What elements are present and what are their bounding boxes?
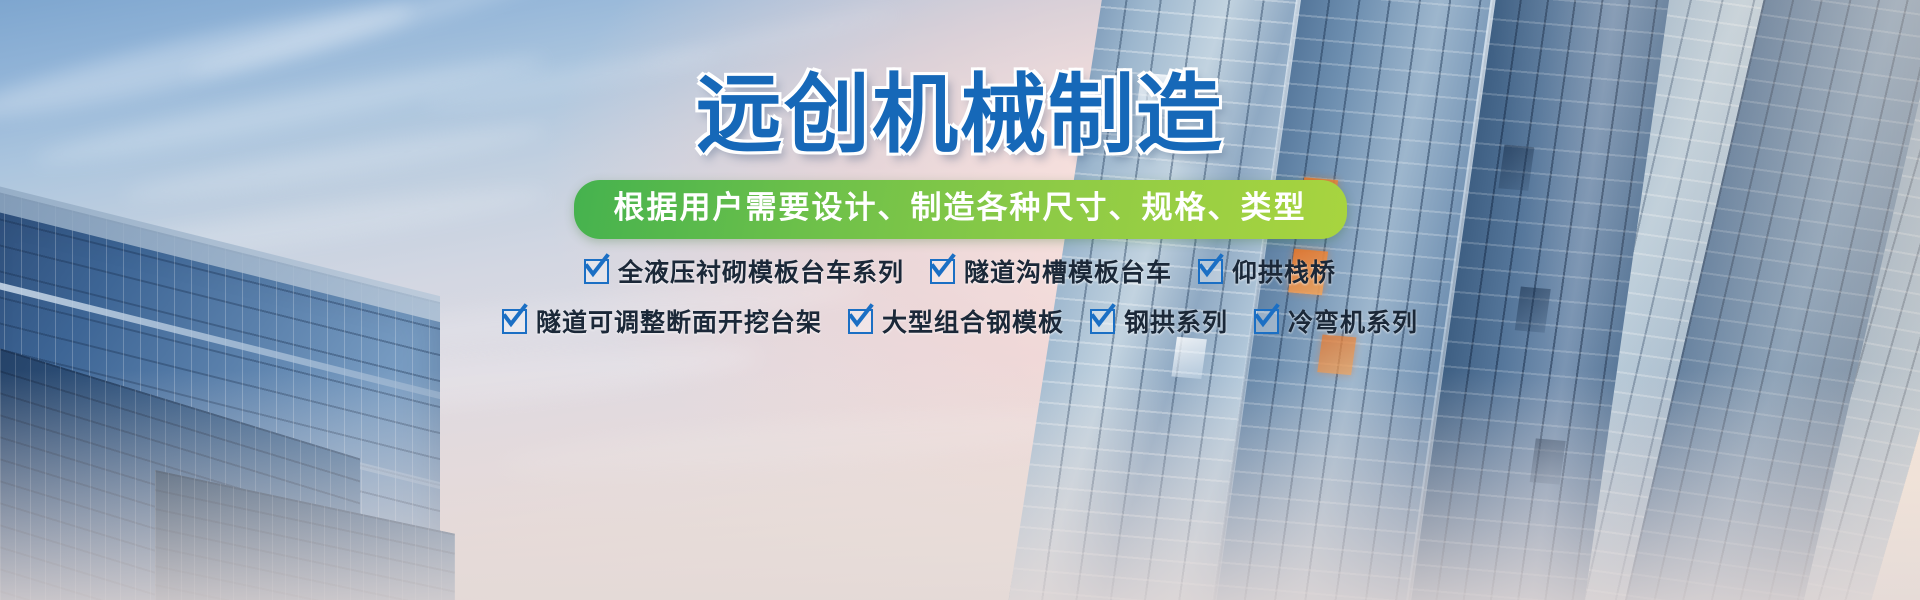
checkbox-checked-icon[interactable]	[584, 259, 609, 284]
feature-label: 隧道沟槽模板台车	[964, 253, 1172, 289]
feature-item[interactable]: 钢拱系列	[1090, 303, 1228, 339]
feature-item[interactable]: 全液压衬砌模板台车系列	[584, 253, 904, 289]
feature-item[interactable]: 大型组合钢模板	[848, 303, 1064, 339]
checkbox-checked-icon[interactable]	[1198, 259, 1223, 284]
checkbox-checked-icon[interactable]	[848, 309, 873, 334]
feature-label: 大型组合钢模板	[882, 303, 1064, 339]
feature-label: 钢拱系列	[1124, 303, 1228, 339]
feature-item[interactable]: 冷弯机系列	[1254, 303, 1418, 339]
hero-banner: 远创机械制造 根据用户需要设计、制造各种尺寸、规格、类型 全液压衬砌模板台车系列…	[0, 0, 1920, 600]
feature-label: 冷弯机系列	[1288, 303, 1418, 339]
feature-item[interactable]: 隧道可调整断面开挖台架	[502, 303, 822, 339]
feature-label: 仰拱栈桥	[1232, 253, 1336, 289]
banner-subtitle-pill: 根据用户需要设计、制造各种尺寸、规格、类型	[574, 180, 1347, 239]
banner-subtitle-wrapper: 根据用户需要设计、制造各种尺寸、规格、类型	[0, 180, 1920, 239]
feature-label: 隧道可调整断面开挖台架	[536, 303, 822, 339]
checkbox-checked-icon[interactable]	[1090, 309, 1115, 334]
feature-item[interactable]: 仰拱栈桥	[1198, 253, 1336, 289]
feature-list: 全液压衬砌模板台车系列 隧道沟槽模板台车 仰拱栈桥 隧道可调整断面开挖台架	[0, 253, 1920, 339]
banner-title: 远创机械制造	[0, 72, 1920, 158]
feature-row: 隧道可调整断面开挖台架 大型组合钢模板 钢拱系列 冷弯机系列	[502, 303, 1418, 339]
feature-label: 全液压衬砌模板台车系列	[618, 253, 904, 289]
checkbox-checked-icon[interactable]	[1254, 309, 1279, 334]
feature-item[interactable]: 隧道沟槽模板台车	[930, 253, 1172, 289]
banner-content: 远创机械制造 根据用户需要设计、制造各种尺寸、规格、类型 全液压衬砌模板台车系列…	[0, 0, 1920, 600]
feature-row: 全液压衬砌模板台车系列 隧道沟槽模板台车 仰拱栈桥	[584, 253, 1336, 289]
checkbox-checked-icon[interactable]	[930, 259, 955, 284]
checkbox-checked-icon[interactable]	[502, 309, 527, 334]
